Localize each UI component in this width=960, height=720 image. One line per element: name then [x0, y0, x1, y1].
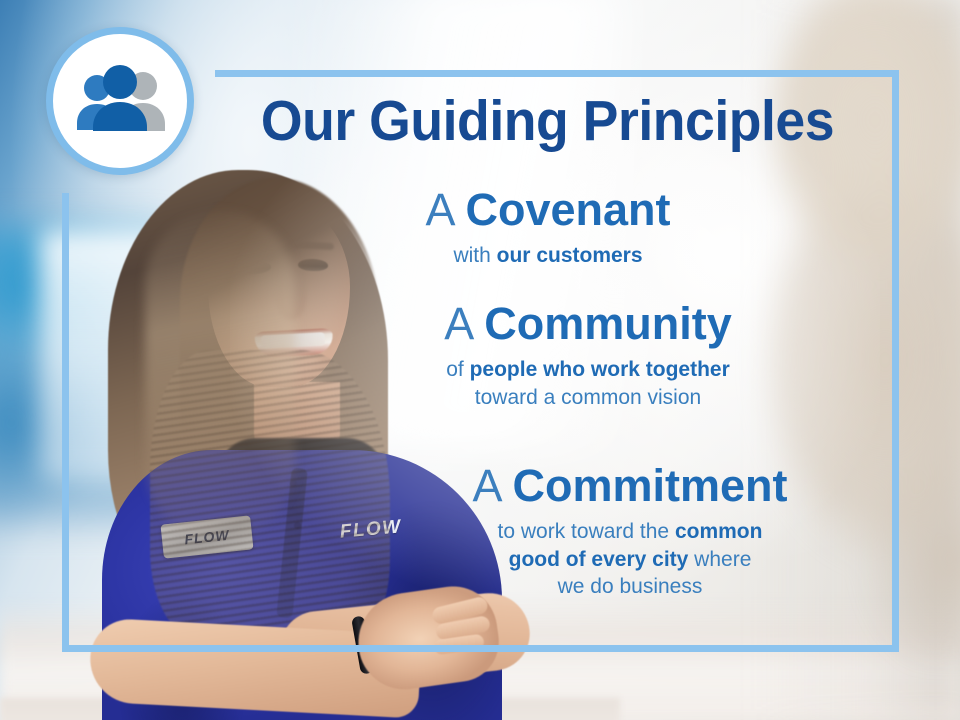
- principle-commitment-subtext: to work toward the commongood of every c…: [330, 518, 930, 600]
- subtext-run: toward a common vision: [475, 386, 701, 409]
- frame-border-bottom: [62, 645, 899, 652]
- frame-border-top: [215, 70, 899, 77]
- subtext-run: of: [446, 358, 469, 381]
- subtext-line: of people who work together: [288, 356, 888, 383]
- principle-covenant: A Covenant with our customers: [248, 186, 848, 270]
- subtext-emphasis: our customers: [497, 244, 643, 267]
- principle-community-heading: A Community: [288, 300, 888, 347]
- principle-covenant-keyword: Covenant: [466, 184, 671, 235]
- subtext-run: with: [453, 244, 496, 267]
- principle-covenant-heading: A Covenant: [248, 186, 848, 233]
- subtext-line: good of every city where: [330, 546, 930, 573]
- frame-border-left: [62, 193, 69, 652]
- page-title: Our Guiding Principles: [235, 92, 860, 150]
- subtext-run: where: [688, 548, 751, 571]
- subtext-line: we do business: [330, 573, 930, 600]
- subtext-line: with our customers: [248, 242, 848, 269]
- principle-commitment-keyword: Commitment: [513, 460, 788, 511]
- subtext-emphasis: good of every city: [509, 548, 689, 571]
- subtext-line: toward a common vision: [288, 384, 888, 411]
- principle-commitment-heading: A Commitment: [330, 462, 930, 509]
- principle-community-subtext: of people who work togethertoward a comm…: [288, 356, 888, 411]
- principle-commitment-lead: A: [472, 460, 512, 511]
- subtext-line: to work toward the common: [330, 518, 930, 545]
- principle-community-keyword: Community: [484, 298, 732, 349]
- group-of-people-icon: [46, 27, 194, 175]
- principle-covenant-subtext: with our customers: [248, 242, 848, 269]
- principle-community: A Community of people who work togethert…: [288, 300, 888, 411]
- principle-covenant-lead: A: [425, 184, 465, 235]
- principle-community-lead: A: [444, 298, 484, 349]
- guiding-principles-banner: FLOW FLOW: [0, 0, 960, 720]
- subtext-emphasis: common: [675, 520, 763, 543]
- subtext-run: we do business: [558, 575, 703, 598]
- subtext-emphasis: people who work together: [470, 358, 730, 381]
- subtext-run: to work toward the: [498, 520, 675, 543]
- principle-commitment: A Commitment to work toward the commongo…: [330, 462, 930, 600]
